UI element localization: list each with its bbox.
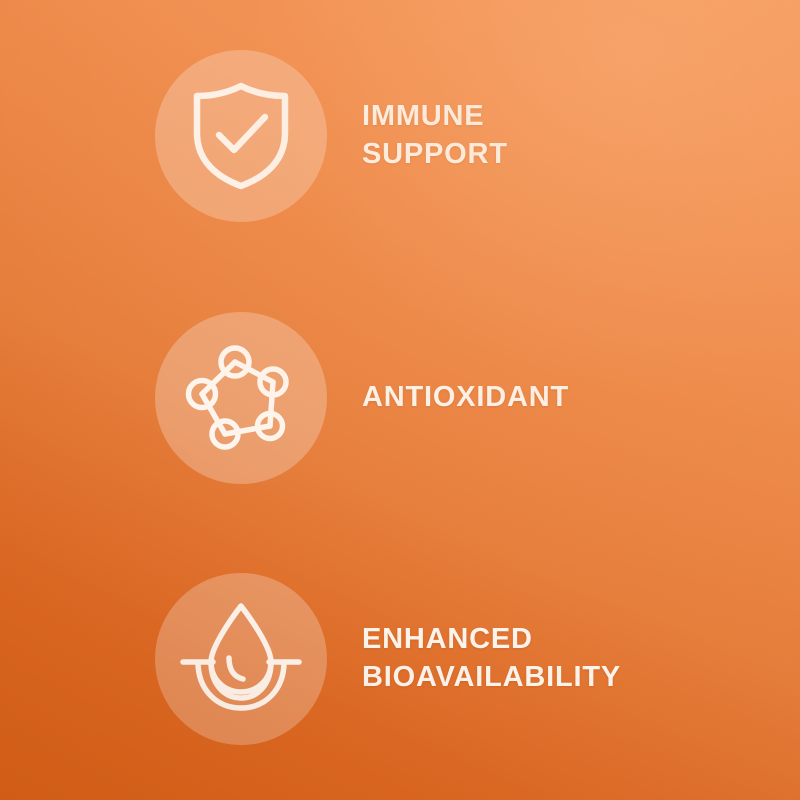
feature-item-enhanced-bioavailability: ENHANCED BIOAVAILABILITY xyxy=(0,573,800,745)
molecule-icon xyxy=(185,342,297,454)
feature-item-immune-support: IMMUNE SUPPORT xyxy=(0,50,800,222)
feature-benefits-panel: IMMUNE SUPPORT xyxy=(0,0,800,800)
feature-item-antioxidant: ANTIOXIDANT xyxy=(0,312,800,484)
feature-label-enhanced-bioavailability: ENHANCED BIOAVAILABILITY xyxy=(362,621,621,696)
icon-badge-antioxidant xyxy=(155,312,327,484)
feature-label-antioxidant: ANTIOXIDANT xyxy=(362,379,569,417)
icon-badge-immune-support xyxy=(155,50,327,222)
shield-check-icon xyxy=(189,81,293,191)
icon-badge-enhanced-bioavailability xyxy=(155,573,327,745)
droplet-ripple-icon xyxy=(177,600,305,718)
feature-label-immune-support: IMMUNE SUPPORT xyxy=(362,98,508,173)
